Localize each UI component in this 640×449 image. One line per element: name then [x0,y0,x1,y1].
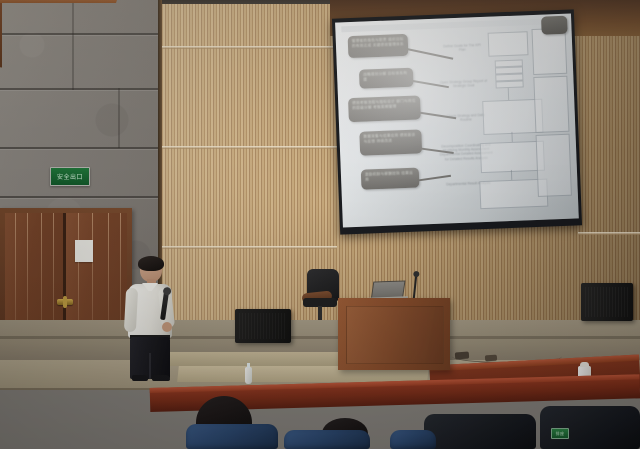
slide-callout-3-text: 绩效考核流程与指标设计 部门与岗位的层级分解 考核周期管理 [348,95,421,113]
exit-sign-label: 安全出口 [57,172,83,181]
floor-cable-plate [455,352,469,360]
slide-corner-badge [541,16,568,35]
stone-seam [0,196,160,198]
lectern-podium [338,298,450,370]
seat-number-label: 排座 [556,431,565,437]
door-notice-paper [75,240,93,262]
slide-flow-label-2: Open Strategy Group Report of Strategic … [439,79,487,89]
flow-node [536,134,572,197]
seat-number-plate: 排座 [551,428,569,439]
callout-tail [417,175,451,181]
slide-callout-4-text: 数据采集与结果应用 绩效面谈与反馈 持续改进 [359,129,422,147]
lecture-hall-photo: 安全出口 管理者的角色与职责 组织目标的有效达成 关键绩效管理体系 战略规划分解… [0,0,640,449]
flow-connector [508,88,509,100]
slide-callout-4: 数据采集与结果应用 绩效面谈与反馈 持续改进 [359,129,422,155]
wood-joint-line [162,146,340,149]
presenter-hand [162,322,172,332]
stone-seam [0,147,160,149]
presenter [118,258,184,378]
presenter-shoe [152,375,170,381]
audience-seat-2[interactable] [284,430,370,449]
water-bottle [245,367,252,384]
audience-seat-3[interactable] [424,414,536,449]
office-chair-post [318,306,322,320]
podium-side-panel [0,0,2,67]
floor-speaker-right [581,283,633,321]
slide-callout-1: 管理者的角色与职责 组织目标的有效达成 关键绩效管理体系 [348,34,409,58]
stone-seam [72,0,74,90]
audience-seat-1[interactable] [186,424,278,449]
flow-node [533,76,569,133]
door-handle[interactable] [57,299,73,305]
slide-flow-label-3: Check Strategy and Daily Routine [445,113,487,123]
presenter-hair [138,256,164,271]
stage-edge-shadow [0,336,640,339]
slide-callout-2: 战略规划分解 目标体系构建 [359,68,414,89]
slide-callout-3: 绩效考核流程与指标设计 部门与岗位的层级分解 考核周期管理 [348,95,421,122]
flow-node [531,28,567,75]
slide-flow-label-1: Define Goals for The KPI Plan [440,43,484,53]
presenter-left-arm [124,288,138,333]
wood-joint-line [162,46,337,49]
floor-cable-plate [485,355,497,362]
flow-node [488,31,529,57]
wood-joint-line [578,232,640,235]
projection-screen-surface: 管理者的角色与职责 组织目标的有效达成 关键绩效管理体系 战略规划分解 目标体系… [335,14,579,228]
podium-worktop [0,0,119,3]
slide-callout-1-text: 管理者的角色与职责 组织目标的有效达成 关键绩效管理体系 [348,34,409,51]
flow-node [495,80,523,88]
presenter-leg-seam [149,353,151,379]
slide-callout-5-text: 激励机制与薪酬挂钩 结果运用 [361,168,420,185]
stone-seam [0,88,160,90]
floor-speaker-left [235,309,291,343]
audience-seat-5[interactable] [390,430,436,449]
presenter-shoe [132,375,148,381]
emergency-exit-sign: 安全出口 [50,167,90,186]
slide-callout-2-text: 战略规划分解 目标体系构建 [359,68,414,85]
stone-seam [0,33,160,35]
slide-callout-5: 激励机制与薪酬挂钩 结果运用 [361,168,420,190]
projection-screen: 管理者的角色与职责 组织目标的有效达成 关键绩效管理体系 战略规划分解 目标体系… [332,9,582,234]
podium-front-panel [346,306,444,364]
stone-seam [118,88,120,148]
wood-joint-line [162,246,337,249]
